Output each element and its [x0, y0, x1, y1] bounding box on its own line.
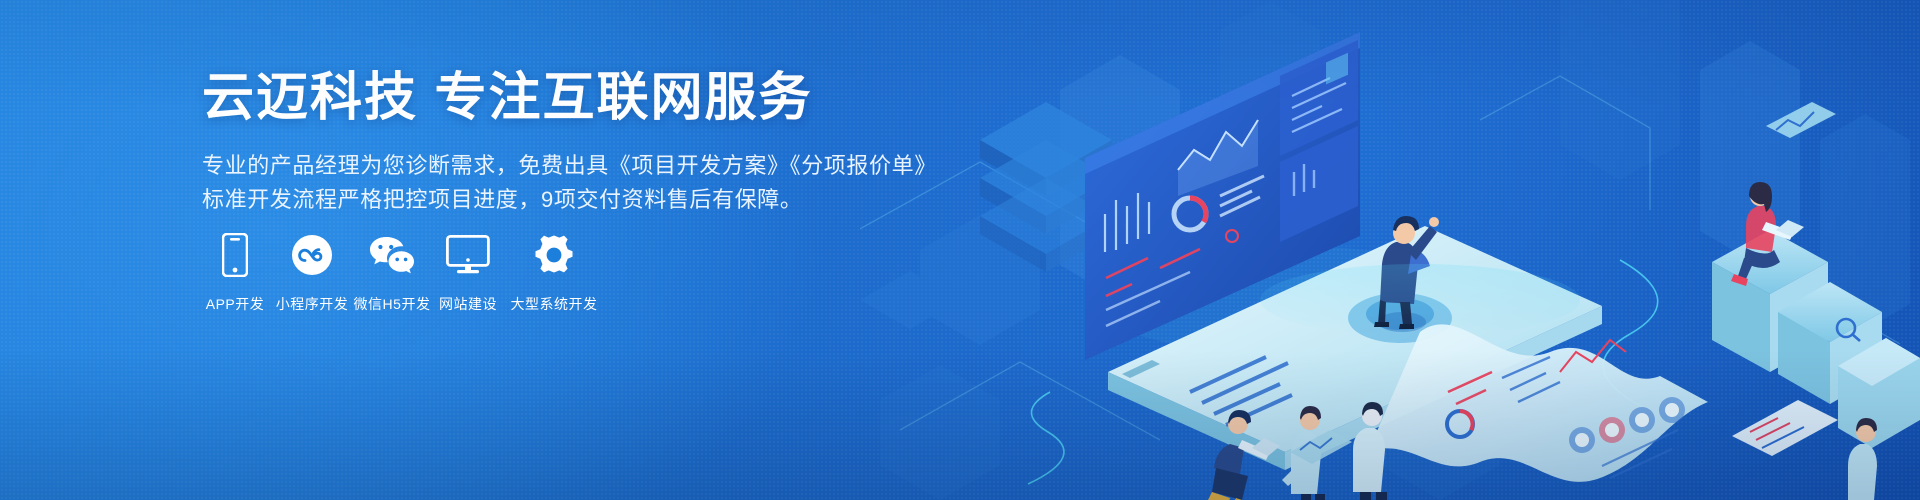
service-label-website: 网站建设 [439, 294, 497, 314]
gear-icon [533, 232, 575, 278]
service-icon-row: APP开发 小程序开发 [200, 232, 600, 314]
mini-program-icon [291, 232, 333, 278]
service-item-website[interactable]: 网站建设 [434, 232, 502, 314]
service-item-wechat-h5[interactable]: 微信H5开发 [352, 232, 432, 314]
subtitle-line-1: 专业的产品经理为您诊断需求，免费出具《项目开发方案》《分项报价单》 [202, 149, 902, 183]
hero-copy: 云迈科技 专注互联网服务 专业的产品经理为您诊断需求，免费出具《项目开发方案》《… [202, 70, 902, 217]
subtitle-line-2: 标准开发流程严格把控项目进度，9项交付资料售后有保障。 [202, 183, 902, 217]
service-item-app[interactable]: APP开发 [200, 232, 270, 314]
service-label-wechat-h5: 微信H5开发 [354, 294, 431, 314]
service-label-app: APP开发 [206, 294, 265, 314]
isometric-illustration [860, 0, 1920, 500]
hero-banner: 云迈科技 专注互联网服务 专业的产品经理为您诊断需求，免费出具《项目开发方案》《… [0, 0, 1920, 500]
page-title: 云迈科技 专注互联网服务 [202, 70, 902, 127]
service-item-large-system[interactable]: 大型系统开发 [508, 232, 600, 314]
monitor-icon [446, 232, 490, 278]
mobile-phone-icon [222, 232, 248, 278]
service-label-miniprogram: 小程序开发 [276, 294, 349, 314]
wechat-icon [368, 232, 416, 278]
service-label-large-system: 大型系统开发 [511, 294, 598, 314]
hero-subtitle: 专业的产品经理为您诊断需求，免费出具《项目开发方案》《分项报价单》 标准开发流程… [202, 127, 902, 217]
service-item-miniprogram[interactable]: 小程序开发 [276, 232, 348, 314]
